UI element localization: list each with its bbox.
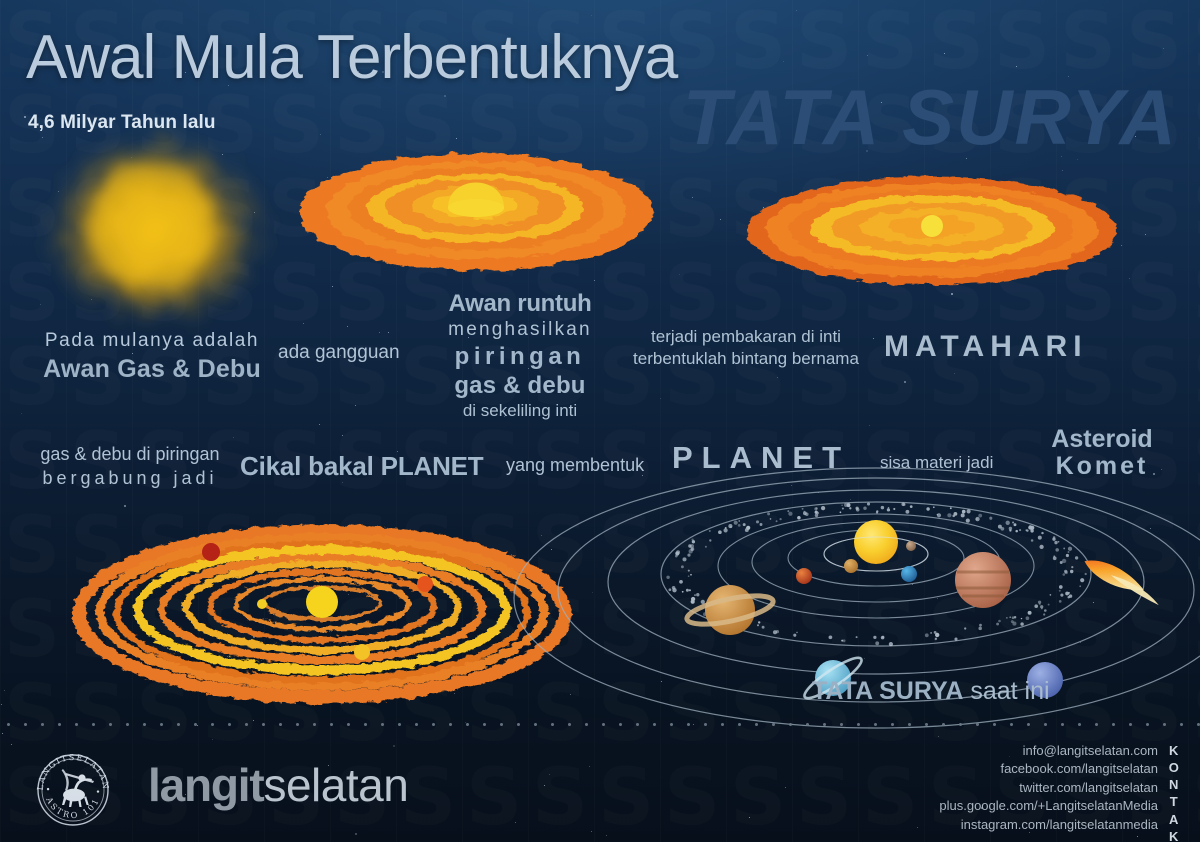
planet-jupiter xyxy=(955,552,1011,608)
infographic-poster: Awal Mula Terbentuknya 4,6 Milyar Tahun … xyxy=(0,0,1200,842)
footer-divider xyxy=(0,723,1200,726)
contact-item-2[interactable]: twitter.com/langitselatan xyxy=(939,779,1158,797)
label-asteroid-comet: Asteroid Komet xyxy=(1022,425,1182,481)
caption-cloud: Pada mulanya adalah Awan Gas & Debu xyxy=(32,330,272,384)
label-solar-system-now: TATA SURYA saat ini xyxy=(812,677,1050,706)
brand-wordmark: langitselatan xyxy=(148,758,408,812)
caption-ignition-l1: terjadi pembakaran di inti xyxy=(624,326,868,348)
svg-text:LANGITSELATAN: LANGITSELATAN xyxy=(35,752,111,791)
langitselatan-seal-logo: LANGITSELATAN • ASTRO 101 • xyxy=(30,747,116,833)
protostar-disk-artwork xyxy=(742,168,1122,294)
kontak-letter-3: T xyxy=(1166,793,1184,810)
kontak-letter-2: N xyxy=(1166,776,1184,793)
caption-accretion-l2: bergabung jadi xyxy=(30,468,230,489)
planet-mars xyxy=(796,568,812,584)
comet xyxy=(1081,553,1166,607)
big-title: TATA SURYA xyxy=(683,72,1178,163)
contact-item-3[interactable]: plus.google.com/+LangitselatanMedia xyxy=(939,797,1158,815)
label-asteroid: Asteroid xyxy=(1022,425,1182,454)
contact-item-4[interactable]: instagram.com/langitselatanmedia xyxy=(939,816,1158,834)
caption-cloud-line2: Awan Gas & Debu xyxy=(32,355,272,384)
seal-top-text: LANGITSELATAN xyxy=(35,752,111,791)
caption-ignition: terjadi pembakaran di inti terbentuklah … xyxy=(624,326,868,370)
kontak-vertical-label: KONTAK xyxy=(1166,742,1184,842)
planet-mercury xyxy=(906,541,916,551)
planet-venus xyxy=(844,559,858,573)
label-matahari: MATAHARI xyxy=(884,330,1088,365)
page-subtitle: 4,6 Milyar Tahun lalu xyxy=(28,112,216,134)
label-solar-system-now-bold: TATA SURYA xyxy=(812,677,963,705)
caption-collapse: Awan runtuh menghasilkan piringan gas & … xyxy=(430,290,610,420)
caption-collapse-l5: di sekeliling inti xyxy=(430,401,610,421)
caption-cloud-line1: Pada mulanya adalah xyxy=(32,330,272,352)
label-comet: Komet xyxy=(1022,452,1182,481)
caption-disturbance: ada gangguan xyxy=(278,342,400,364)
centaur-archer-icon xyxy=(62,769,94,807)
label-protoplanet: Cikal bakal PLANET xyxy=(240,452,483,482)
contact-item-1[interactable]: facebook.com/langitselatan xyxy=(939,760,1158,778)
protoplanetary-disk-artwork xyxy=(72,512,572,708)
caption-accretion-l1: gas & debu di piringan xyxy=(30,444,230,465)
label-planet: PLANET xyxy=(672,440,850,476)
kontak-letter-1: O xyxy=(1166,759,1184,776)
molecular-cloud-artwork xyxy=(10,118,300,348)
planet-earth xyxy=(901,566,917,582)
brand-light: selatan xyxy=(263,759,408,811)
caption-leftover: sisa materi jadi xyxy=(880,453,993,473)
contact-item-0[interactable]: info@langitselatan.com xyxy=(939,742,1158,760)
caption-collapse-l1: Awan runtuh xyxy=(430,290,610,318)
brand-bold: langit xyxy=(148,759,263,811)
caption-accretion: gas & debu di piringan bergabung jadi xyxy=(30,444,230,488)
contact-list: info@langitselatan.comfacebook.com/langi… xyxy=(939,742,1158,834)
caption-collapse-l2: menghasilkan xyxy=(430,319,610,341)
label-solar-system-now-light: saat ini xyxy=(963,677,1049,705)
page-title: Awal Mula Terbentuknya xyxy=(26,22,677,93)
collapsing-disk-artwork xyxy=(296,138,656,286)
kontak-letter-4: A xyxy=(1166,811,1184,828)
caption-ignition-l2: terbentuklah bintang bernama xyxy=(624,348,868,370)
kontak-letter-0: K xyxy=(1166,742,1184,759)
caption-collapse-l3: piringan xyxy=(430,343,610,371)
kontak-letter-5: K xyxy=(1166,828,1184,842)
caption-collapse-l4: gas & debu xyxy=(430,372,610,400)
caption-forming: yang membentuk xyxy=(506,455,644,476)
